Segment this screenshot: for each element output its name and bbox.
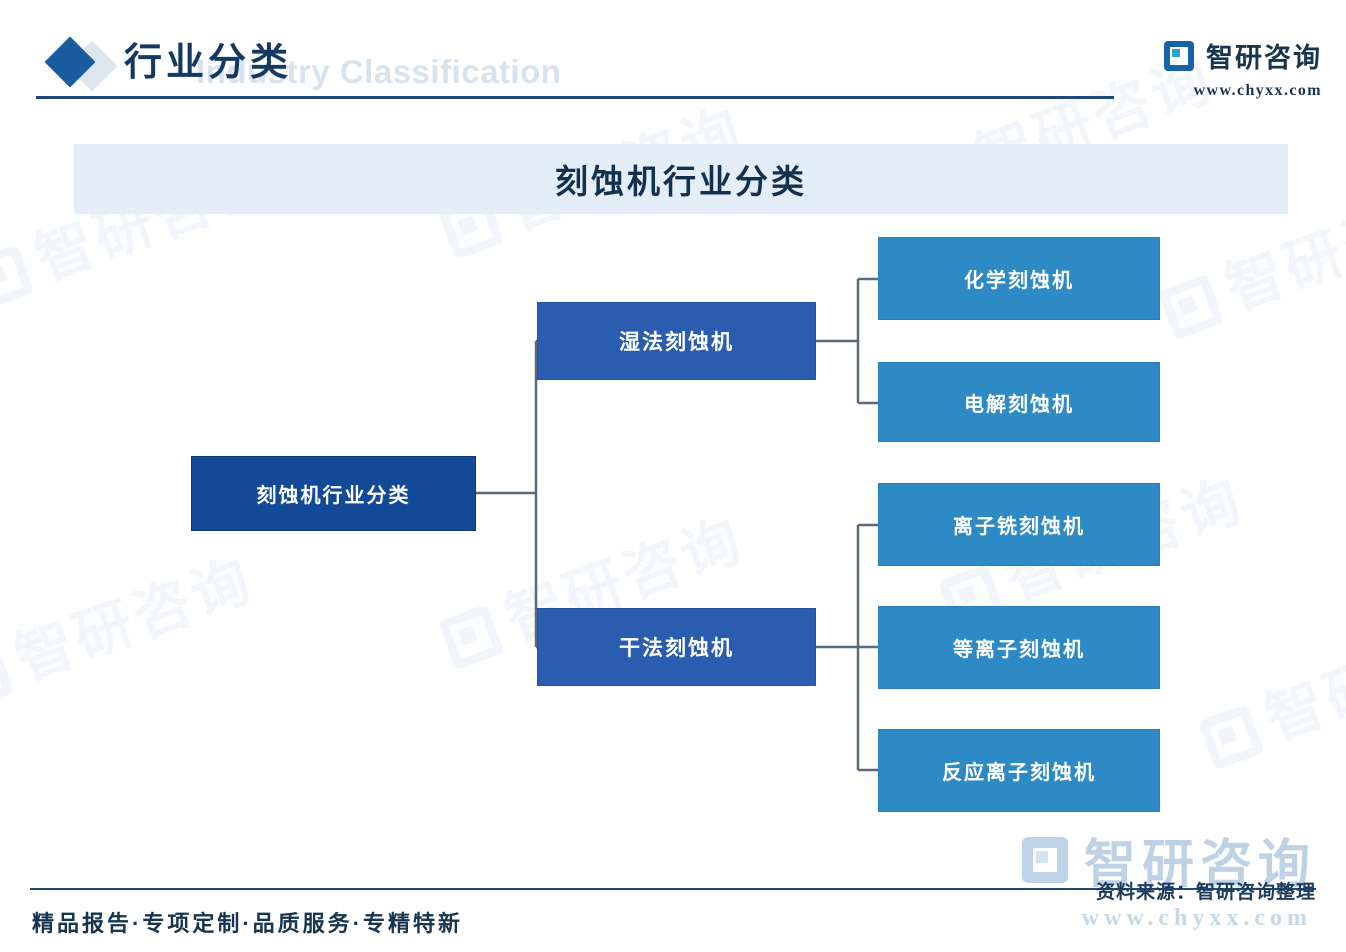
node-branch-dry-label: 干法刻蚀机 <box>619 632 734 662</box>
node-leaf-ion-milling-etcher[interactable]: 离子铣刻蚀机 <box>878 483 1160 566</box>
node-leaf-reactive-ion-etcher[interactable]: 反应离子刻蚀机 <box>878 729 1160 812</box>
node-leaf-label: 化学刻蚀机 <box>964 264 1074 293</box>
node-branch-wet[interactable]: 湿法刻蚀机 <box>537 302 816 380</box>
node-root-label: 刻蚀机行业分类 <box>257 479 411 508</box>
node-leaf-label: 离子铣刻蚀机 <box>953 510 1085 539</box>
classification-diagram: 刻蚀机行业分类 湿法刻蚀机 干法刻蚀机 化学刻蚀机 电解刻蚀机 离子铣刻蚀机 等… <box>0 0 1346 952</box>
node-branch-dry[interactable]: 干法刻蚀机 <box>537 608 816 686</box>
node-leaf-chemical-etcher[interactable]: 化学刻蚀机 <box>878 237 1160 320</box>
node-leaf-label: 等离子刻蚀机 <box>953 633 1085 662</box>
node-root[interactable]: 刻蚀机行业分类 <box>191 456 476 531</box>
node-branch-wet-label: 湿法刻蚀机 <box>619 326 734 356</box>
source-note: 资料来源：智研咨询整理 <box>1096 877 1316 904</box>
corner-watermark-url: www.chyxx.com <box>1082 905 1312 932</box>
slide-page: 智研咨询 智研咨询 智研咨询 智研咨询 智研咨询 智研咨询 智研咨询 智研咨询 … <box>0 0 1346 952</box>
node-leaf-label: 反应离子刻蚀机 <box>942 756 1096 785</box>
node-leaf-plasma-etcher[interactable]: 等离子刻蚀机 <box>878 606 1160 689</box>
footer-slogan: 精品报告·专项定制·品质服务·专精特新 <box>32 906 463 938</box>
node-leaf-electrolytic-etcher[interactable]: 电解刻蚀机 <box>878 362 1160 442</box>
node-leaf-label: 电解刻蚀机 <box>964 388 1074 417</box>
zhiyan-watermark-icon <box>1022 837 1068 883</box>
